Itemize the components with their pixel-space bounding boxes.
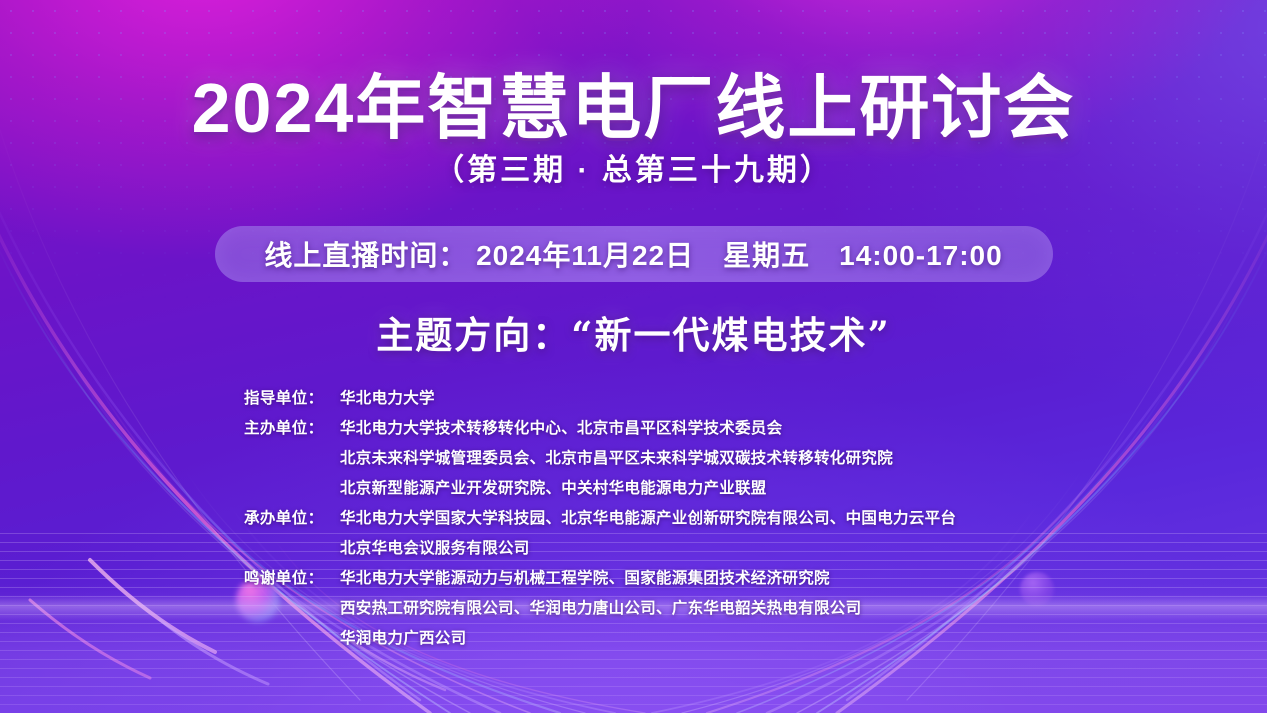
credit-label: 鸣谢单位： (244, 566, 340, 588)
credit-row: 北京华电会议服务有限公司 (244, 536, 1104, 566)
credit-label: 指导单位： (244, 386, 340, 408)
live-time-banner: 线上直播时间： 2024年11月22日 星期五 14:00-17:00 (215, 226, 1053, 282)
credit-value: 北京华电会议服务有限公司 (340, 536, 1104, 558)
webinar-poster: 2024年智慧电厂线上研讨会 （第三期 · 总第三十九期） 线上直播时间： 20… (0, 0, 1267, 713)
credit-value: 华润电力广西公司 (340, 626, 1104, 648)
credit-value: 华北电力大学技术转移转化中心、北京市昌平区科学技术委员会 (340, 416, 1104, 438)
credit-value: 华北电力大学国家大学科技园、北京华电能源产业创新研究院有限公司、中国电力云平台 (340, 506, 1104, 528)
credit-row: 北京新型能源产业开发研究院、中关村华电能源电力产业联盟 (244, 476, 1104, 506)
credit-row: 鸣谢单位： 华北电力大学能源动力与机械工程学院、国家能源集团技术经济研究院 (244, 566, 1104, 596)
poster-theme: 主题方向：“新一代煤电技术” (0, 305, 1267, 359)
credit-row: 承办单位： 华北电力大学国家大学科技园、北京华电能源产业创新研究院有限公司、中国… (244, 506, 1104, 536)
credit-row: 西安热工研究院有限公司、华润电力唐山公司、广东华电韶关热电有限公司 (244, 596, 1104, 626)
credit-value: 北京新型能源产业开发研究院、中关村华电能源电力产业联盟 (340, 476, 1104, 498)
credit-row: 主办单位： 华北电力大学技术转移转化中心、北京市昌平区科学技术委员会 (244, 416, 1104, 446)
credit-label: 主办单位： (244, 416, 340, 438)
credit-row: 北京未来科学城管理委员会、北京市昌平区未来科学城双碳技术转移转化研究院 (244, 446, 1104, 476)
credit-value: 西安热工研究院有限公司、华润电力唐山公司、广东华电韶关热电有限公司 (340, 596, 1104, 618)
credit-row: 华润电力广西公司 (244, 626, 1104, 656)
credit-row: 指导单位： 华北电力大学 (244, 386, 1104, 416)
credit-value: 华北电力大学能源动力与机械工程学院、国家能源集团技术经济研究院 (340, 566, 1104, 588)
credit-value: 北京未来科学城管理委员会、北京市昌平区未来科学城双碳技术转移转化研究院 (340, 446, 1104, 468)
poster-subtitle: （第三期 · 总第三十九期） (0, 145, 1267, 189)
live-time-text: 线上直播时间： 2024年11月22日 星期五 14:00-17:00 (264, 234, 1002, 274)
credits-block: 指导单位： 华北电力大学 主办单位： 华北电力大学技术转移转化中心、北京市昌平区… (244, 386, 1104, 656)
credit-value: 华北电力大学 (340, 386, 1104, 408)
poster-title: 2024年智慧电厂线上研讨会 (0, 52, 1267, 153)
poster-content: 2024年智慧电厂线上研讨会 （第三期 · 总第三十九期） 线上直播时间： 20… (0, 0, 1267, 713)
credit-label: 承办单位： (244, 506, 340, 528)
